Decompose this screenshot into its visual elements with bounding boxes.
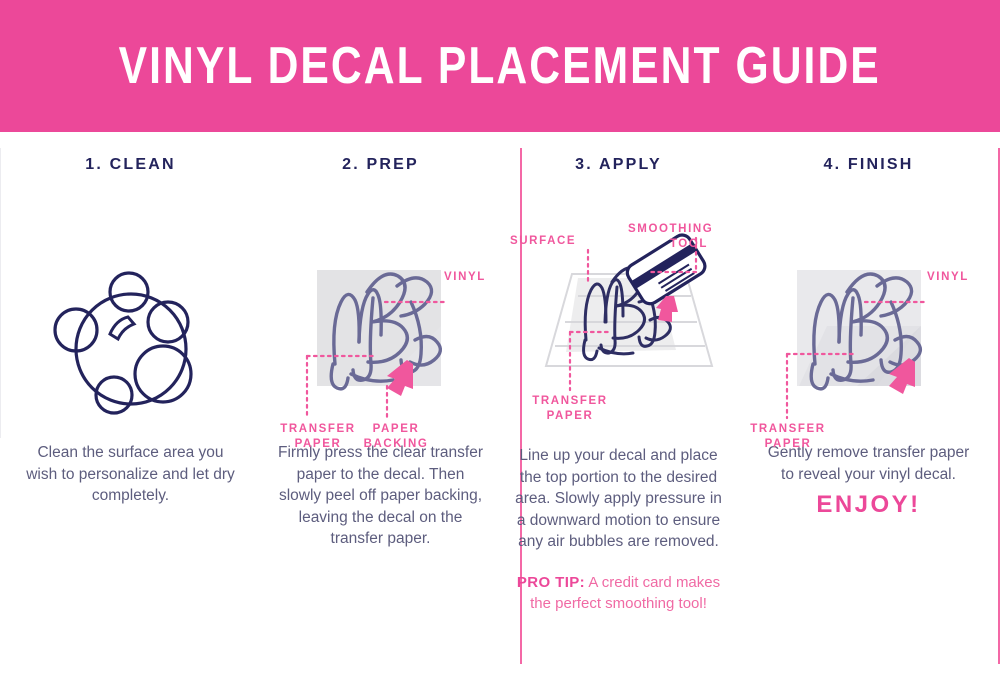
illustration-soap-bubbles — [0, 174, 261, 446]
label-transfer-paper: TRANSFER PAPER — [279, 422, 357, 452]
step-title-apply: 3. APPLY — [575, 156, 662, 174]
step-column-prep: 2. PREP — [261, 132, 500, 680]
step-body-prep: Firmly press the clear transfer paper to… — [275, 442, 487, 550]
step-title-prep: 2. PREP — [342, 156, 419, 174]
label-transfer-paper: TRANSFER PAPER — [530, 394, 610, 424]
step-body-clean: Clean the surface area you wish to perso… — [25, 442, 237, 507]
pro-tip: PRO TIP: A credit card makes the perfect… — [512, 572, 725, 614]
step-column-apply: 3. APPLY — [500, 132, 737, 680]
label-vinyl: VINYL — [444, 270, 486, 285]
page-title: VINYL DECAL PLACEMENT GUIDE — [119, 36, 881, 96]
step-title-clean: 1. CLEAN — [85, 156, 176, 174]
pro-tip-label: PRO TIP: — [517, 574, 585, 591]
step-title-finish: 4. FINISH — [823, 156, 913, 174]
illustration-decal-peeling: VINYL TRANSFER PAPER — [737, 174, 1000, 446]
label-transfer-paper: TRANSFER PAPER — [749, 422, 827, 452]
page-header: VINYL DECAL PLACEMENT GUIDE — [0, 0, 1000, 132]
label-paper-backing: PAPER BACKING — [357, 422, 435, 452]
enjoy-text: ENJOY! — [816, 491, 920, 519]
label-surface: SURFACE — [510, 234, 576, 249]
steps-container: 1. CLEAN Clean the surface area you wish… — [0, 132, 1000, 680]
label-smoothing-tool: SMOOTHING TOOL — [628, 222, 708, 252]
step-body-apply: Line up your decal and place the top por… — [512, 445, 725, 553]
illustration-decal-on-surface: SURFACE SMOOTHING TOOL TRANSFER PAPER — [500, 174, 737, 446]
label-vinyl: VINYL — [927, 270, 969, 285]
step-column-clean: 1. CLEAN Clean the surface area you wish… — [0, 132, 261, 680]
step-column-finish: 4. FINISH — [737, 132, 1000, 680]
illustration-decal-transfer-paper: VINYL TRANSFER PAPER PAPER BACKING — [261, 174, 500, 446]
